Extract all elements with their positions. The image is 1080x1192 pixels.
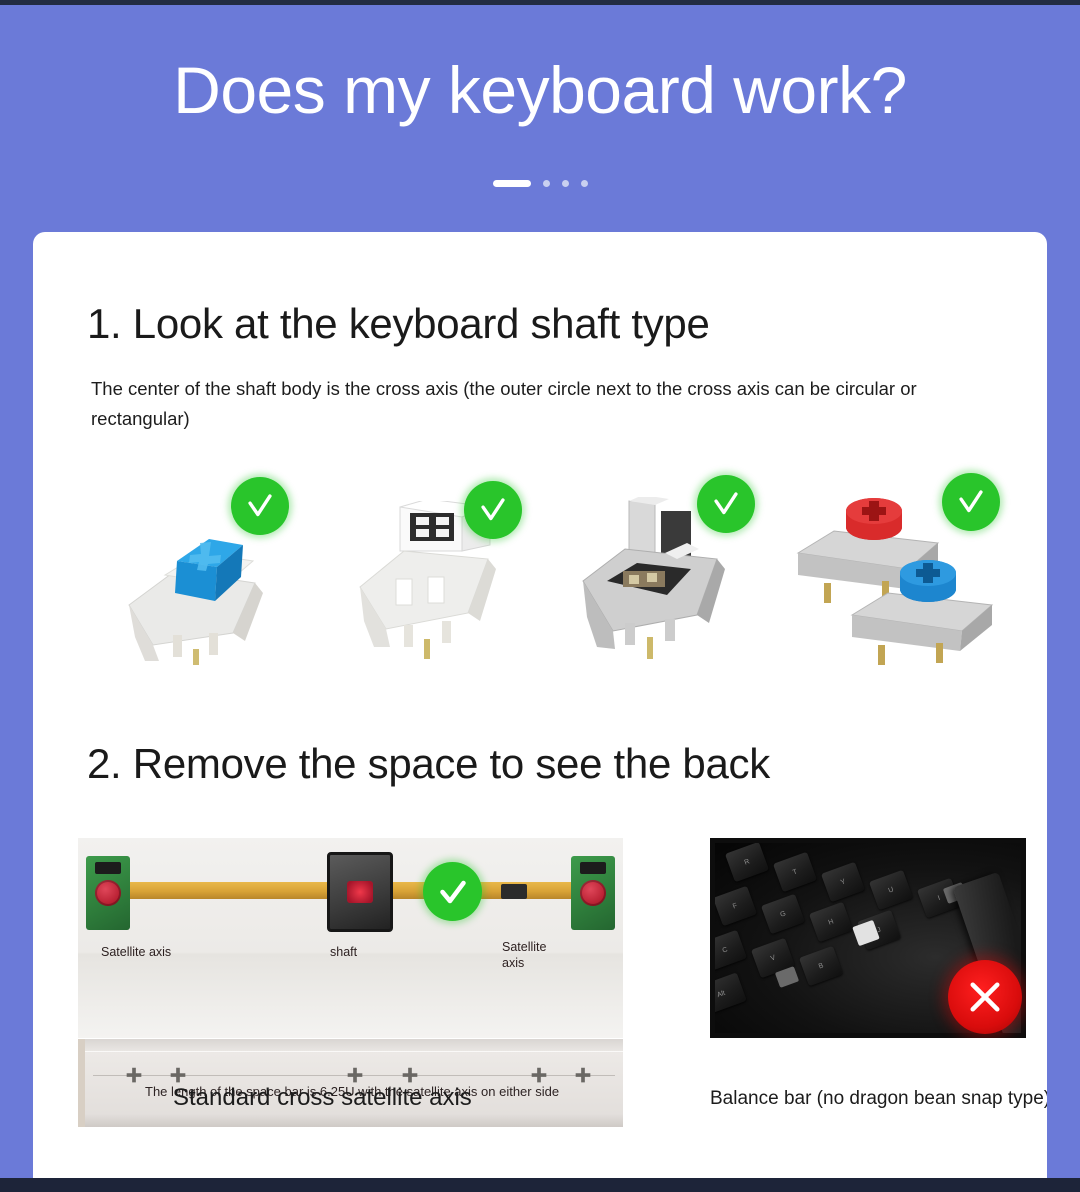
navigation-bar-strip bbox=[0, 1178, 1080, 1192]
check-badge-icon bbox=[423, 862, 482, 921]
check-badge-icon bbox=[697, 475, 755, 533]
section-1-heading: 1. Look at the keyboard shaft type bbox=[87, 300, 710, 348]
switch-gallery bbox=[83, 467, 1031, 682]
pagination-dot-4[interactable] bbox=[581, 180, 588, 187]
media-comparison-row: Satellite axis shaft Satellite axis bbox=[78, 838, 1038, 1178]
keycap: B bbox=[799, 946, 843, 987]
switch-item-blue bbox=[83, 467, 320, 682]
keycap: T bbox=[773, 852, 817, 893]
keycap: U bbox=[869, 870, 913, 911]
pagination-dot-3[interactable] bbox=[562, 180, 569, 187]
keycap: Y bbox=[821, 862, 865, 903]
keycap: C bbox=[715, 930, 747, 971]
pagination-dot-active[interactable] bbox=[493, 180, 531, 187]
cross-badge-icon bbox=[948, 960, 1022, 1034]
media-balance-bar: R T Y U I F G H J C V B Alt bbox=[710, 838, 1026, 1038]
keycap: G bbox=[761, 894, 805, 935]
section-2-heading: 2. Remove the space to see the back bbox=[87, 740, 770, 788]
pagination-indicator[interactable] bbox=[493, 180, 588, 187]
satellite-axis-photo: Satellite axis shaft Satellite axis bbox=[78, 838, 623, 1038]
cross-stem-icon bbox=[572, 1065, 594, 1087]
page-header: Does my keyboard work? bbox=[0, 5, 1080, 232]
check-badge-icon bbox=[231, 477, 289, 535]
page-title: Does my keyboard work? bbox=[173, 57, 907, 123]
cross-stem-icon bbox=[123, 1065, 145, 1087]
keycap: R bbox=[725, 843, 769, 882]
section-1-description: The center of the shaft body is the cros… bbox=[91, 374, 1015, 434]
label-shaft: shaft bbox=[330, 945, 357, 961]
switch-item-low-profile-pair bbox=[794, 467, 1031, 682]
center-shaft bbox=[327, 852, 393, 932]
spacebar-underside-photo: The length of the space bar is 6.25U wit… bbox=[78, 1039, 623, 1127]
keycap: Alt bbox=[715, 972, 747, 1015]
switch-item-silver bbox=[557, 467, 794, 682]
rail-clip-block bbox=[501, 884, 527, 899]
keycap: H bbox=[809, 902, 853, 943]
check-badge-icon bbox=[464, 481, 522, 539]
label-satellite-axis-left: Satellite axis bbox=[101, 945, 171, 961]
media-satellite-axis: Satellite axis shaft Satellite axis bbox=[78, 838, 623, 1127]
satellite-stabilizer-right bbox=[571, 856, 615, 930]
content-card: 1. Look at the keyboard shaft type The c… bbox=[33, 232, 1047, 1178]
satellite-stabilizer-left bbox=[86, 856, 130, 930]
pagination-dot-2[interactable] bbox=[543, 180, 550, 187]
check-badge-icon bbox=[942, 473, 1000, 531]
balance-bar-photo: R T Y U I F G H J C V B Alt bbox=[710, 838, 1026, 1038]
caption-standard-cross-satellite-axis: Standard cross satellite axis bbox=[173, 1084, 472, 1112]
label-satellite-axis-right: Satellite axis bbox=[502, 940, 564, 971]
caption-balance-bar: Balance bar (no dragon bean snap type) bbox=[710, 1088, 1026, 1110]
keycap: F bbox=[715, 886, 757, 927]
switch-item-white bbox=[320, 467, 557, 682]
